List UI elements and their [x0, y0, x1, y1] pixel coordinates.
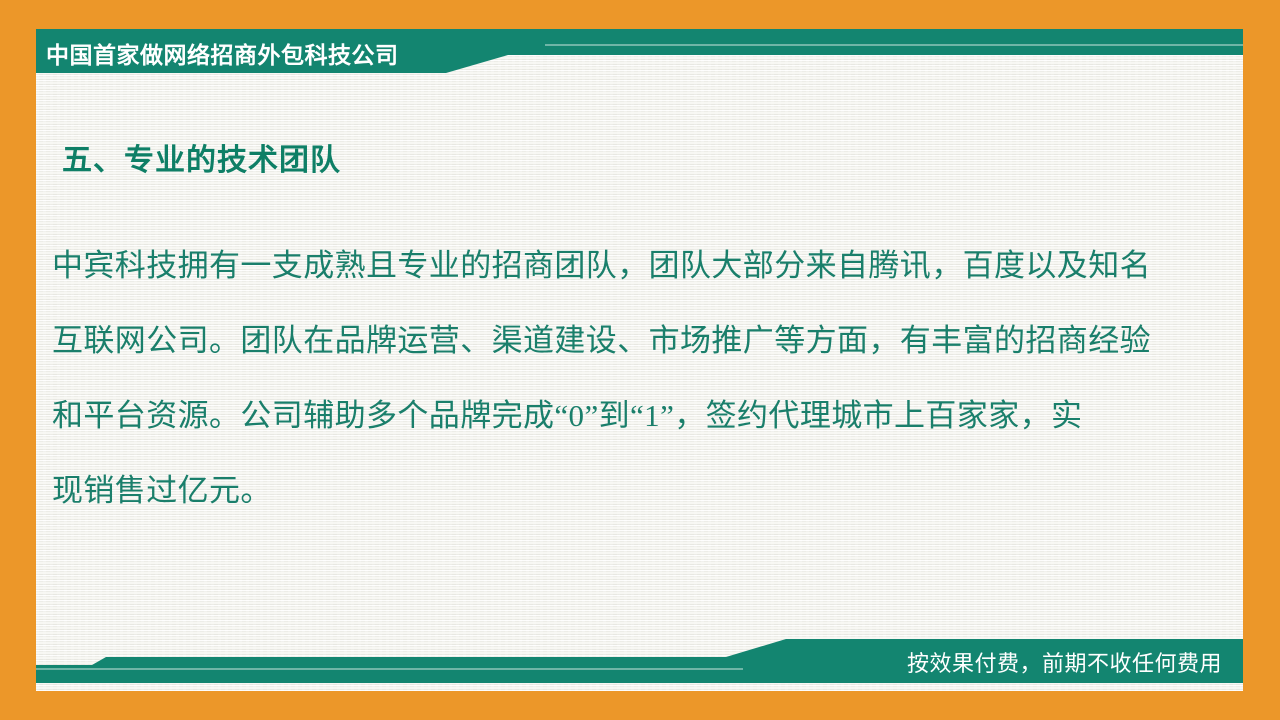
presentation-slide: 中国首家做网络招商外包科技公司 五、专业的技术团队 中宾科技拥有一支成熟且专业的…: [0, 0, 1280, 720]
footer-tagline: 按效果付费，前期不收任何费用: [907, 648, 1222, 680]
header-banner-top-edge: [36, 29, 1243, 33]
section-heading: 五、专业的技术团队: [62, 135, 341, 179]
footer-accent-line: [36, 668, 743, 670]
body-line: 中宾科技拥有一支成熟且专业的招商团队，团队大部分来自腾讯，百度以及知名: [52, 228, 1187, 303]
body-line: 和平台资源。公司辅助多个品牌完成“0”到“1”，签约代理城市上百家家，实: [52, 378, 1187, 453]
header-title: 中国首家做网络招商外包科技公司: [46, 39, 566, 71]
header-accent-line: [545, 44, 1243, 46]
body-line: 互联网公司。团队在品牌运营、渠道建设、市场推广等方面，有丰富的招商经验: [52, 303, 1187, 378]
body-paragraph: 中宾科技拥有一支成熟且专业的招商团队，团队大部分来自腾讯，百度以及知名 互联网公…: [52, 228, 1187, 528]
body-line: 现销售过亿元。: [52, 453, 1187, 528]
